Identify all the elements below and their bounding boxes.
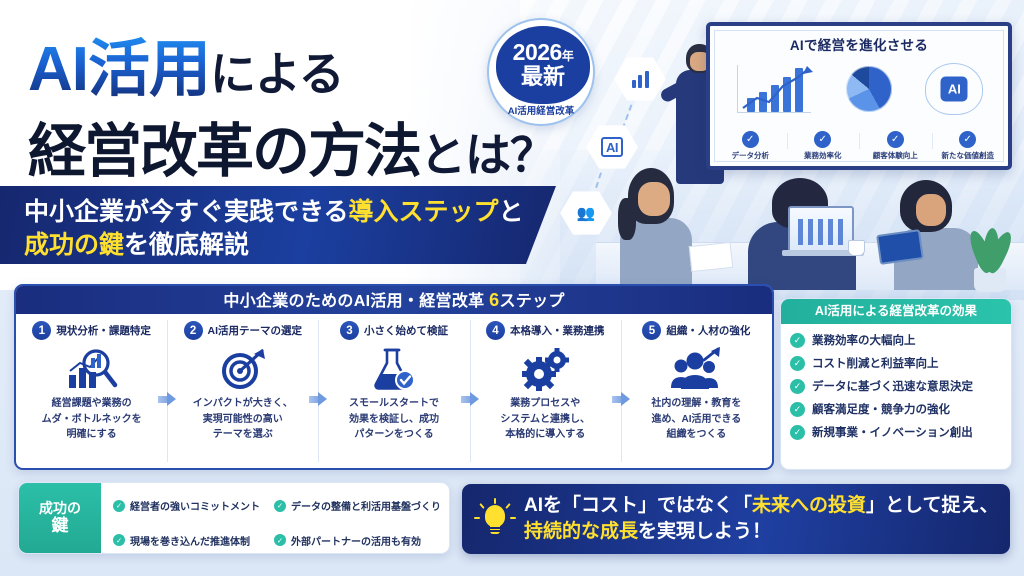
step-item-5[interactable]: 5 組織・人材の強化 社内の理解・教育を 進め、AI活用できる 組織	[621, 314, 772, 470]
cta-text: AIを「コスト」ではなく「未来への投資」として捉え、 持続的な成長を実現しよう！	[524, 493, 998, 544]
check-icon: ✓	[113, 534, 125, 546]
step-label-5: 組織・人材の強化	[666, 323, 750, 338]
effect-item: ✓ 顧客満足度・競争力の強化	[790, 401, 1002, 417]
effect-item: ✓ 新規事業・イノベーション創出	[790, 424, 1002, 440]
step-item-1[interactable]: 1 現状分析・課題特定 経営課題や業務の ムダ・ボトルネックを 明確	[16, 314, 167, 470]
step-number-2: 2	[184, 321, 203, 340]
wall-icon-3: 新たな価値創造	[932, 131, 1005, 161]
key-item: ✓ データの整備と利活用基盤づくり	[274, 493, 441, 519]
steps-grid: 1 現状分析・課題特定 経営課題や業務の ムダ・ボトルネックを 明確	[16, 314, 772, 470]
effect-item: ✓ データに基づく迅速な意思決定	[790, 378, 1002, 394]
people-icon: 👥	[577, 206, 596, 221]
arrow-right-icon	[461, 392, 479, 406]
clock-check-icon	[887, 131, 904, 148]
wall-icon-0: データ分析	[714, 131, 787, 161]
step-number-4: 4	[486, 321, 505, 340]
step-header-4: 4 本格導入・業務連携	[474, 321, 617, 340]
check-icon: ✓	[790, 402, 805, 417]
key-item: ✓ 現場を巻き込んだ推進体制	[113, 528, 268, 554]
wall-icon-1: 業務効率化	[787, 131, 860, 161]
title-keiei-kaikaku: 経営改革の方法	[28, 119, 420, 184]
step-desc-4: 業務プロセスや システムと連携し、 本格的に導入する	[474, 396, 617, 443]
success-keys-list: ✓ 経営者の強いコミットメント ✓ データの整備と利活用基盤づくり ✓ 現場を巻…	[101, 483, 449, 553]
step-desc-1: 経営課題や業務の ムダ・ボトルネックを 明確にする	[20, 396, 163, 443]
ribbon-highlight-steps: 導入ステップ	[349, 198, 499, 226]
flask-check-icon	[322, 344, 465, 394]
coffee-cup-icon	[848, 240, 865, 256]
people-icon	[959, 131, 976, 148]
cta-highlight-investment: 未来への投資	[752, 495, 866, 516]
badge-subtitle: AI活用経営改革	[489, 103, 593, 117]
laptop-icon	[788, 206, 854, 252]
title-towa: とは？	[420, 129, 555, 181]
effects-panel-heading: AI活用による経営改革の効果	[781, 299, 1011, 324]
wall-screen-title: AIで経営を進化させる	[710, 34, 1008, 54]
cta-highlight-growth: 持続的な成長	[524, 521, 638, 542]
step-header-2: 2 AI活用テーマの選定	[171, 321, 314, 340]
title-block: AI活用による 経営改革の方法とは？	[0, 0, 560, 185]
cta-line-1: AIを「コスト」ではなく「未来への投資」として捉え、	[524, 493, 998, 519]
wall-screen-graphics: AI	[718, 58, 1000, 120]
year-badge-disc: 2026年 最新	[496, 26, 590, 104]
trend-arrow-icon	[735, 62, 813, 116]
step-header-1: 1 現状分析・課題特定	[20, 321, 163, 340]
pie-chart-icon	[846, 66, 892, 112]
step-item-4[interactable]: 4 本格導入・業務連携	[470, 314, 621, 470]
step-header-3: 3 小さく始めて検証	[322, 321, 465, 340]
check-icon: ✓	[790, 356, 805, 371]
check-icon: ✓	[274, 500, 286, 512]
steps-panel-heading: 中小企業のためのAI活用・経営改革 6ステップ	[16, 286, 772, 314]
ribbon-highlight-keys: 成功の鍵	[24, 231, 124, 259]
magnifier-chart-icon	[20, 344, 163, 394]
steps-panel: 中小企業のためのAI活用・経営改革 6ステップ 1 現状分析・課題特定	[14, 284, 774, 470]
arrow-right-icon	[158, 392, 176, 406]
tablet-icon	[876, 229, 924, 265]
ribbon-line-2: 成功の鍵を徹底解説	[24, 229, 556, 262]
gears-icon	[474, 344, 617, 394]
step-number-1: 1	[32, 321, 51, 340]
check-icon: ✓	[790, 379, 805, 394]
step-item-2[interactable]: 2 AI活用テーマの選定 インパクトが大きく、 実現可能性の高い テーマを選ぶ	[167, 314, 318, 470]
effects-list: ✓ 業務効率の大幅向上 ✓ コスト削減と利益率向上 ✓ データに基づく迅速な意思…	[781, 324, 1011, 440]
key-item: ✓ 経営者の強いコミットメント	[113, 493, 268, 519]
cta-banner: AIを「コスト」ではなく「未来への投資」として捉え、 持続的な成長を実現しよう！	[462, 484, 1010, 554]
step-header-5: 5 組織・人材の強化	[625, 321, 768, 340]
wall-icon-2: 顧客体験向上	[859, 131, 932, 161]
wall-presentation-screen: AIで経営を進化させる AI データ分析	[706, 22, 1012, 170]
step-desc-5: 社内の理解・教育を 進め、AI活用できる 組織をつくる	[625, 396, 768, 443]
title-niyoru: による	[210, 48, 344, 100]
steps-count: 6	[489, 290, 499, 310]
line-bar-chart-icon	[735, 62, 813, 116]
step-label-4: 本格導入・業務連携	[510, 323, 605, 338]
cta-line-2: 持続的な成長を実現しよう！	[524, 519, 998, 545]
wall-screen-icon-row: データ分析 業務効率化 顧客体験向上 新たな価値創造	[714, 131, 1004, 161]
check-circle-icon	[742, 131, 759, 148]
success-keys-panel: 成功の 鍵 ✓ 経営者の強いコミットメント ✓ データの整備と利活用基盤づくり …	[18, 482, 450, 554]
ai-chip-icon: AI	[601, 137, 623, 157]
title-line-2: 経営改革の方法とは？	[28, 104, 555, 188]
step-item-3[interactable]: 3 小さく始めて検証 スモールスタートで 効果を検証し、成功 パターンをつくる	[318, 314, 469, 470]
key-item: ✓ 外部パートナーの活用も有効	[274, 528, 441, 554]
step-label-2: AI活用テーマの選定	[208, 323, 303, 338]
subtitle-ribbon: 中小企業が今すぐ実践できる導入ステップと 成功の鍵を徹底解説	[0, 186, 556, 264]
arrow-right-icon	[309, 392, 327, 406]
check-icon: ✓	[113, 500, 125, 512]
ai-brain-icon: AI	[925, 63, 983, 115]
check-icon: ✓	[790, 333, 805, 348]
step-number-5: 5	[642, 321, 661, 340]
plant-decoration	[962, 208, 1016, 292]
title-ai-katsuyo: AI活用	[28, 35, 210, 104]
ribbon-line-1: 中小企業が今すぐ実践できる導入ステップと	[24, 196, 556, 229]
badge-year: 2026年	[513, 41, 574, 64]
check-icon: ✓	[274, 534, 286, 546]
badge-new-label: 最新	[521, 65, 565, 89]
year-badge: 2026年 最新 AI活用経営改革	[487, 18, 595, 126]
check-icon: ✓	[790, 425, 805, 440]
effect-item: ✓ コスト削減と利益率向上	[790, 355, 1002, 371]
bar-chart-icon	[632, 71, 649, 88]
effect-item: ✓ 業務効率の大幅向上	[790, 332, 1002, 348]
step-number-3: 3	[340, 321, 359, 340]
lightbulb-icon	[478, 499, 512, 539]
step-desc-3: スモールスタートで 効果を検証し、成功 パターンをつくる	[322, 396, 465, 443]
paper-document	[689, 242, 733, 272]
step-desc-2: インパクトが大きく、 実現可能性の高い テーマを選ぶ	[171, 396, 314, 443]
success-keys-tab: 成功の 鍵	[19, 483, 101, 553]
seated-person-left	[614, 168, 700, 290]
step-label-1: 現状分析・課題特定	[56, 323, 151, 338]
arrow-right-icon	[612, 392, 630, 406]
gear-check-icon	[814, 131, 831, 148]
step-label-3: 小さく始めて検証	[364, 323, 448, 338]
title-line-1: AI活用による	[28, 18, 344, 108]
people-growth-icon	[625, 344, 768, 394]
target-arrow-icon	[171, 344, 314, 394]
effects-panel: AI活用による経営改革の効果 ✓ 業務効率の大幅向上 ✓ コスト削減と利益率向上…	[780, 298, 1012, 470]
